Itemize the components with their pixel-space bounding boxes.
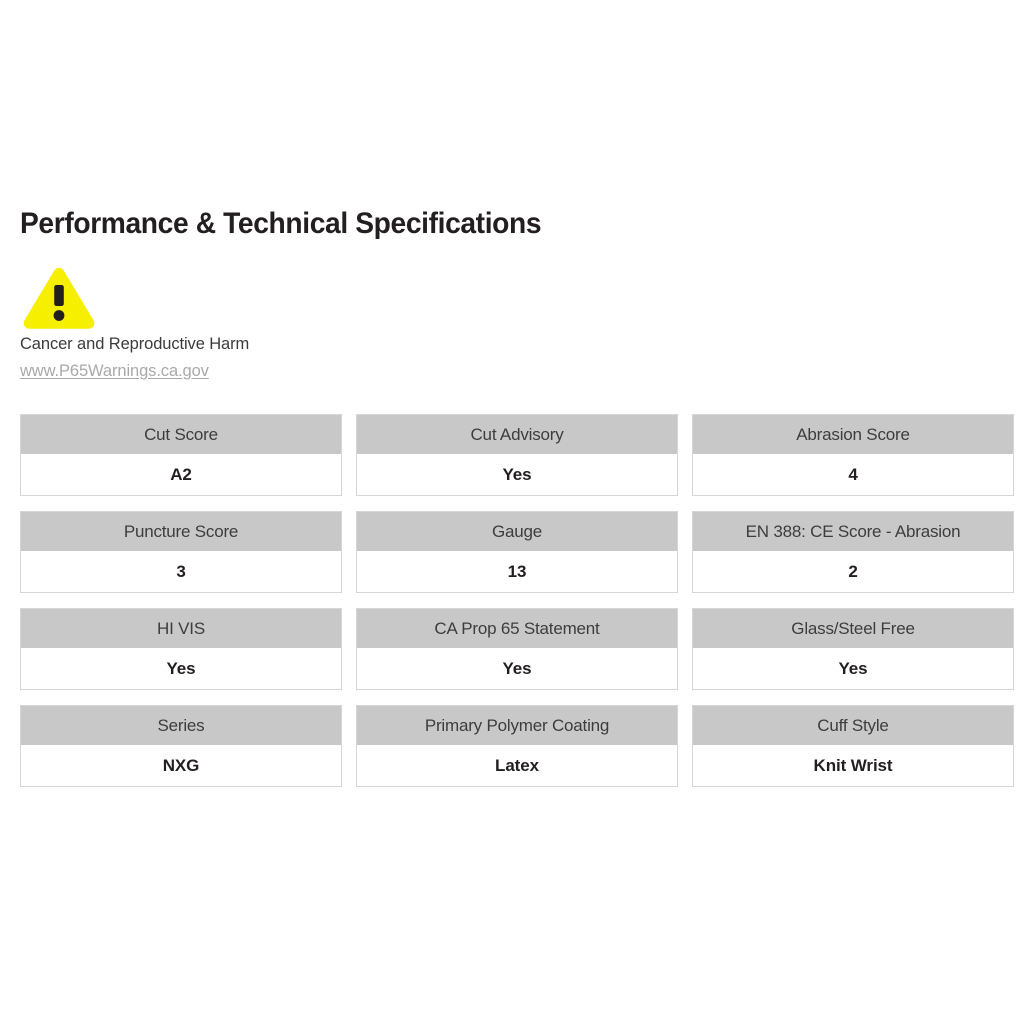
spec-label: HI VIS bbox=[21, 609, 341, 648]
spec-value: NXG bbox=[21, 745, 341, 786]
spec-value: Yes bbox=[693, 648, 1013, 689]
prop65-warning-link[interactable]: www.P65Warnings.ca.gov bbox=[20, 360, 209, 382]
spec-card-glass-steel-free: Glass/Steel Free Yes bbox=[692, 608, 1014, 690]
spec-label: Abrasion Score bbox=[693, 415, 1013, 454]
spec-card-hi-vis: HI VIS Yes bbox=[20, 608, 342, 690]
spec-grid: Cut Score A2 Cut Advisory Yes Abrasion S… bbox=[20, 414, 1014, 787]
prop65-warning-text: Cancer and Reproductive Harm bbox=[20, 332, 544, 355]
spec-value: Yes bbox=[21, 648, 341, 689]
spec-card-en388-ce-score-abrasion: EN 388: CE Score - Abrasion 2 bbox=[692, 511, 1014, 593]
spec-label: Series bbox=[21, 706, 341, 745]
spec-value: 4 bbox=[693, 454, 1013, 495]
spec-label: Gauge bbox=[357, 512, 677, 551]
spec-value: A2 bbox=[21, 454, 341, 495]
spec-card-series: Series NXG bbox=[20, 705, 342, 787]
spec-card-ca-prop-65-statement: CA Prop 65 Statement Yes bbox=[356, 608, 678, 690]
spec-card-cuff-style: Cuff Style Knit Wrist bbox=[692, 705, 1014, 787]
spec-sheet-page: Performance & Technical Specifications C… bbox=[0, 0, 1024, 1024]
spec-card-cut-advisory: Cut Advisory Yes bbox=[356, 414, 678, 496]
spec-label: Cuff Style bbox=[693, 706, 1013, 745]
spec-card-primary-polymer-coating: Primary Polymer Coating Latex bbox=[356, 705, 678, 787]
spec-label: Glass/Steel Free bbox=[693, 609, 1013, 648]
spec-label: Puncture Score bbox=[21, 512, 341, 551]
spec-label: Primary Polymer Coating bbox=[357, 706, 677, 745]
spec-card-cut-score: Cut Score A2 bbox=[20, 414, 342, 496]
spec-value: 3 bbox=[21, 551, 341, 592]
page-title: Performance & Technical Specifications bbox=[20, 204, 541, 244]
spec-value: 13 bbox=[357, 551, 677, 592]
spec-label: CA Prop 65 Statement bbox=[357, 609, 677, 648]
spec-value: 2 bbox=[693, 551, 1013, 592]
spec-label: Cut Advisory bbox=[357, 415, 677, 454]
warning-triangle-icon bbox=[22, 266, 96, 330]
spec-card-puncture-score: Puncture Score 3 bbox=[20, 511, 342, 593]
spec-label: EN 388: CE Score - Abrasion bbox=[693, 512, 1013, 551]
spec-value: Knit Wrist bbox=[693, 745, 1013, 786]
spec-value: Latex bbox=[357, 745, 677, 786]
spec-value: Yes bbox=[357, 454, 677, 495]
spec-value: Yes bbox=[357, 648, 677, 689]
spec-label: Cut Score bbox=[21, 415, 341, 454]
spec-card-gauge: Gauge 13 bbox=[356, 511, 678, 593]
prop65-warning-block: Cancer and Reproductive Harm www.P65Warn… bbox=[20, 266, 560, 382]
spec-card-abrasion-score: Abrasion Score 4 bbox=[692, 414, 1014, 496]
